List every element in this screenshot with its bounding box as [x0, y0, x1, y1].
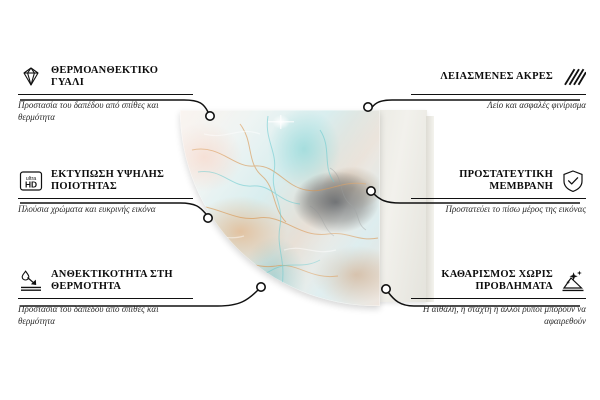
feature-description: Προστασία του δαπέδου από σπίθες και θερ…	[18, 304, 193, 327]
feature-description: Λείο και ασφαλές φινίρισμα	[411, 100, 586, 112]
feature-description: Προστατεύει το πίσω μέρος της εικόνας	[411, 204, 586, 216]
feature-heat-resistant-glass: ΘΕΡΜΟΑΝΘΕΚΤΙΚΟ ΓΥΑΛΙ Προστασία του δαπέδ…	[18, 64, 193, 123]
diagonal-lines-icon	[560, 64, 586, 90]
feature-description: Προστασία του δαπέδου από σπίθες και θερ…	[18, 100, 193, 123]
sparkle-clean-icon	[560, 268, 586, 294]
feature-easy-cleaning: ΚΑΘΑΡΙΣΜΟΣ ΧΩΡΙΣ ΠΡΟΒΛΗΜΑΤΑ Η αιθάλη, η …	[411, 268, 586, 327]
ultra-hd-icon: ultra HD	[18, 168, 44, 194]
feature-title: ΚΑΘΑΡΙΣΜΟΣ ΧΩΡΙΣ ΠΡΟΒΛΗΜΑΤΑ	[411, 269, 553, 294]
divider	[18, 94, 193, 95]
feature-polished-edges: ΛΕΙΑΣΜΕΝΕΣ ΑΚΡΕΣ Λείο και ασφαλές φινίρι…	[411, 64, 586, 112]
flame-arrow-icon	[18, 268, 44, 294]
shield-check-icon	[560, 168, 586, 194]
divider	[411, 94, 586, 95]
feature-title: ΠΡΟΣΤΑΤΕΥΤΙΚΗ ΜΕΜΒΡΑΝΗ	[411, 169, 553, 194]
divider	[411, 298, 586, 299]
feature-description: Πλούσια χρώματα και ευκρινής εικόνα	[18, 204, 193, 216]
feature-title: ΕΚΤΥΠΩΣΗ ΥΨΗΛΗΣ ΠΟΙΟΤΗΤΑΣ	[51, 169, 193, 194]
divider	[411, 198, 586, 199]
feature-description: Η αιθάλη, η στάχτη ή άλλοι ρύποι μπορούν…	[411, 304, 586, 327]
infographic-canvas: ΘΕΡΜΟΑΝΘΕΚΤΙΚΟ ΓΥΑΛΙ Προστασία του δαπέδ…	[0, 0, 600, 400]
feature-heat-durability: ΑΝΘΕΚΤΙΚΟΤΗΤΑ ΣΤΗ ΘΕΡΜΟΤΗΤΑ Προστασία το…	[18, 268, 193, 327]
feature-title: ΘΕΡΜΟΑΝΘΕΚΤΙΚΟ ΓΥΑΛΙ	[51, 65, 193, 90]
feature-title: ΛΕΙΑΣΜΕΝΕΣ ΑΚΡΕΣ	[440, 71, 553, 84]
divider	[18, 198, 193, 199]
diamond-icon	[18, 64, 44, 90]
feature-protective-membrane: ΠΡΟΣΤΑΤΕΥΤΙΚΗ ΜΕΜΒΡΑΝΗ Προστατεύει το πί…	[411, 168, 586, 216]
divider	[18, 298, 193, 299]
ultra-hd-icon-bottom: HD	[25, 180, 37, 190]
feature-high-quality-print: ultra HD ΕΚΤΥΠΩΣΗ ΥΨΗΛΗΣ ΠΟΙΟΤΗΤΑΣ Πλούσ…	[18, 168, 193, 216]
feature-title: ΑΝΘΕΚΤΙΚΟΤΗΤΑ ΣΤΗ ΘΕΡΜΟΤΗΤΑ	[51, 269, 193, 294]
